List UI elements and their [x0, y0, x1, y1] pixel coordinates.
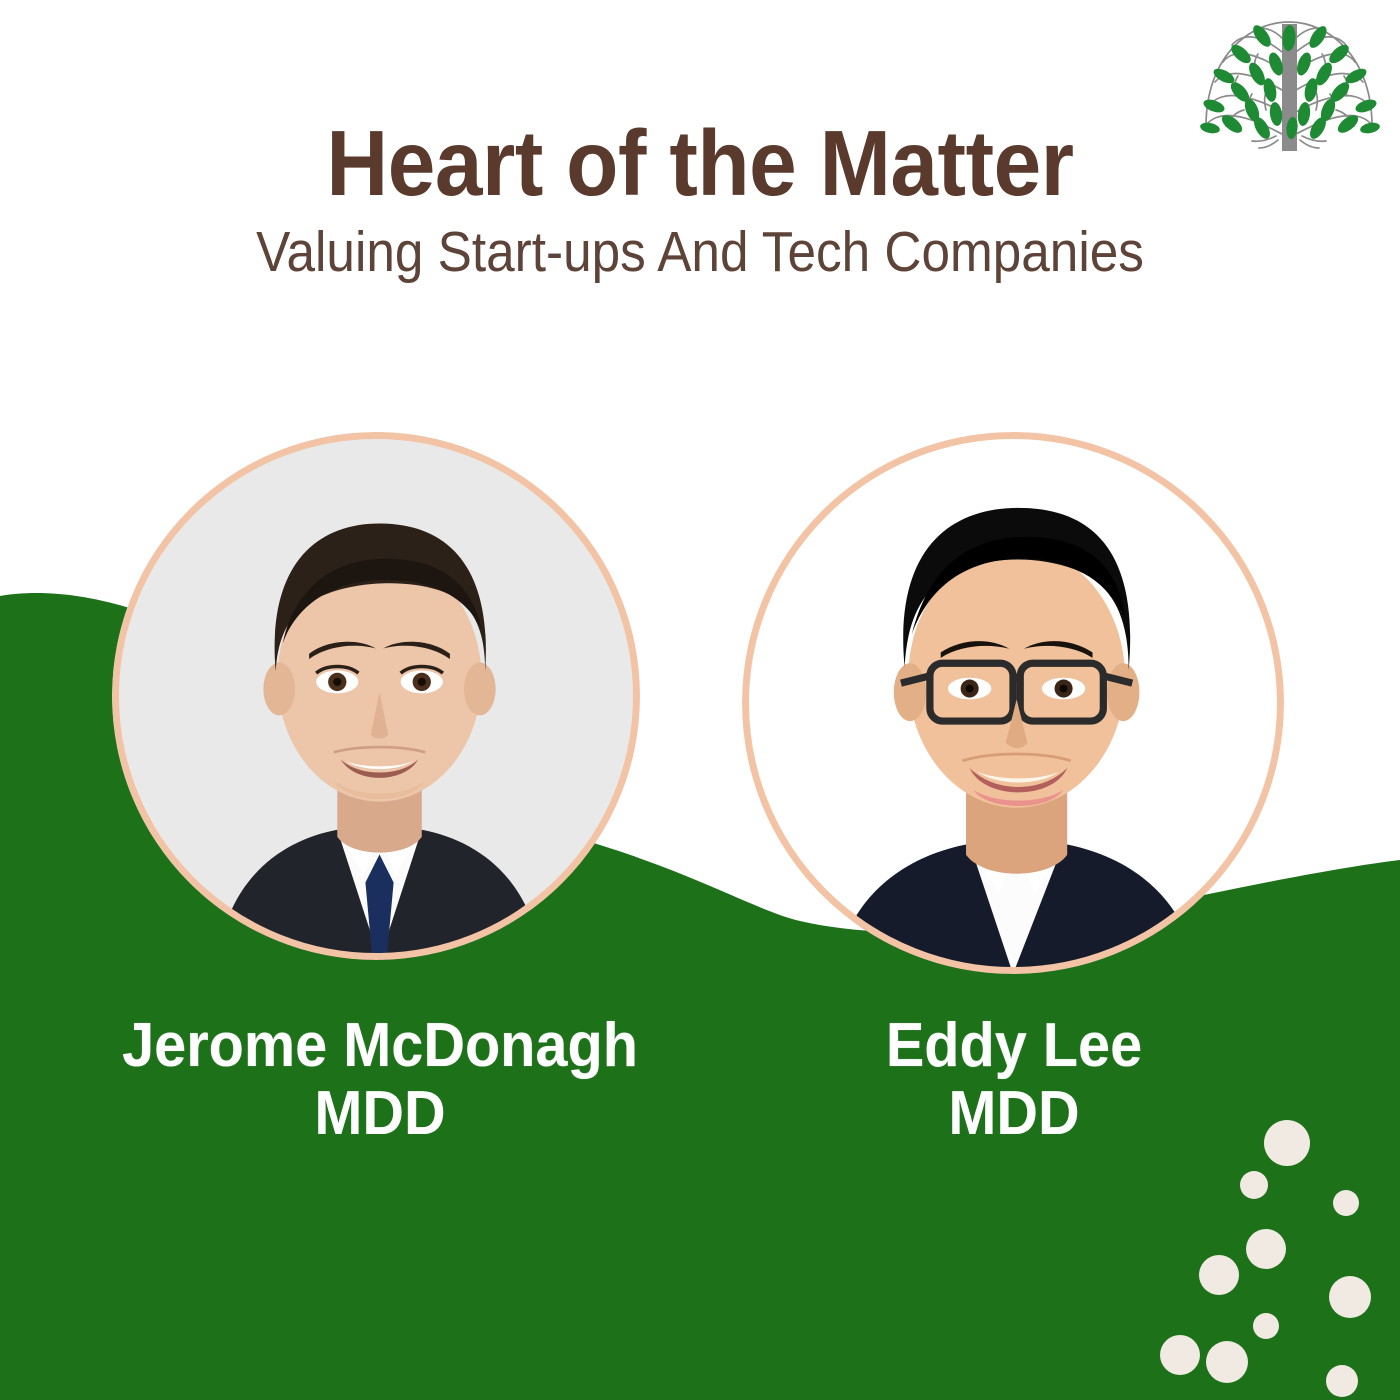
decoration-dot — [1240, 1171, 1268, 1199]
decoration-dot — [1326, 1365, 1358, 1397]
page-subtitle: Valuing Start-ups And Tech Companies — [70, 223, 1330, 283]
podcast-cover-canvas: Heart of the Matter Valuing Start-ups An… — [0, 0, 1400, 1400]
title-block: Heart of the Matter Valuing Start-ups An… — [0, 118, 1400, 283]
decoration-dot — [1329, 1276, 1371, 1318]
speaker-name-block: Jerome McDonagh MDD — [80, 1014, 680, 1148]
speaker-name: Eddy Lee — [759, 1014, 1269, 1077]
decoration-dot — [1246, 1229, 1286, 1269]
avatar-photo-jerome — [112, 432, 640, 960]
decoration-dot — [1160, 1335, 1200, 1375]
page-title: Heart of the Matter — [56, 118, 1344, 209]
decoration-dot — [1253, 1313, 1279, 1339]
speaker-name: Jerome McDonagh — [101, 1014, 659, 1077]
avatar-photo-eddy — [742, 432, 1284, 974]
decoration-dot — [1264, 1120, 1310, 1166]
scattered-dots-decoration — [1150, 1115, 1400, 1400]
decoration-dot — [1333, 1190, 1359, 1216]
decoration-dot — [1206, 1341, 1248, 1383]
decoration-dot — [1199, 1255, 1239, 1295]
avatar — [112, 432, 640, 960]
speaker-role: MDD — [101, 1081, 659, 1148]
avatar — [742, 432, 1284, 974]
